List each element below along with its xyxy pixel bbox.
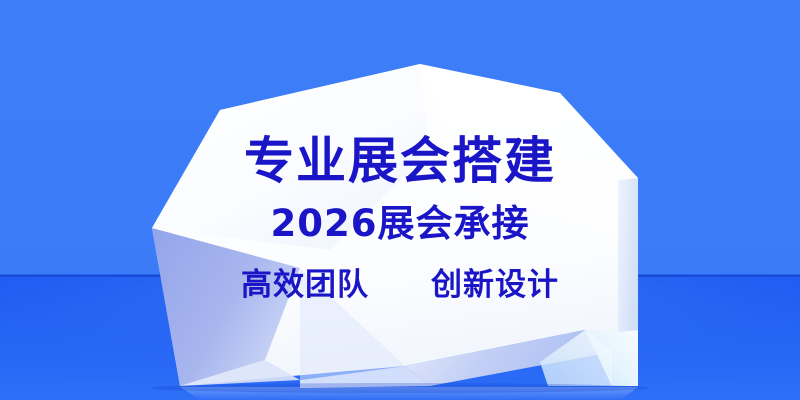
banner-scene-graphic (0, 0, 800, 400)
podium-right-edge (618, 178, 638, 332)
podium-contact-shadow (150, 383, 650, 393)
exhibition-banner: 专业展会搭建 2026展会承接 高效团队 创新设计 (0, 0, 800, 400)
